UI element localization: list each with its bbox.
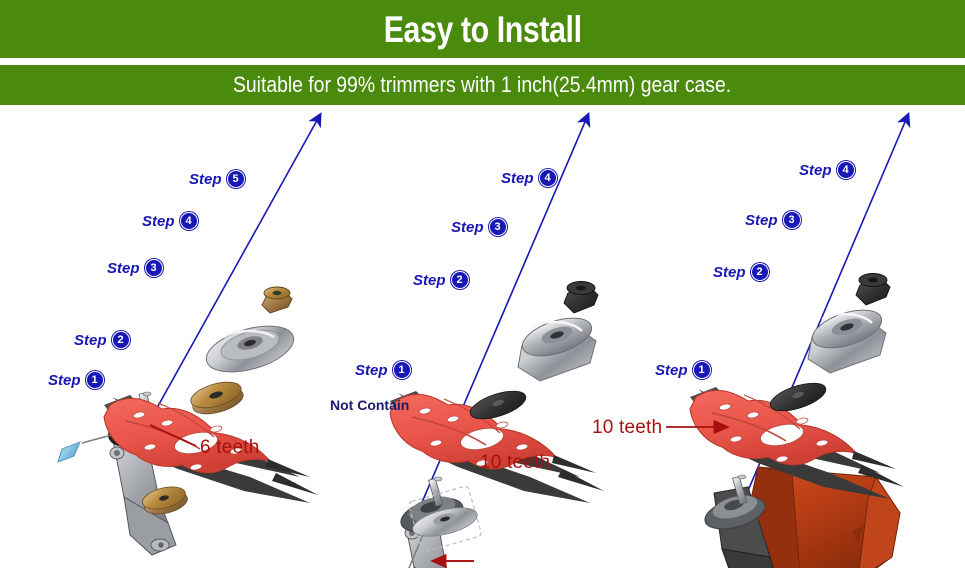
step5-part-nut-left xyxy=(262,287,292,313)
panel-right-graphics xyxy=(666,115,908,568)
page-title: Easy to Install xyxy=(384,11,582,48)
step4-part-nut-right xyxy=(856,274,890,306)
step3-part-cup-middle xyxy=(518,311,596,381)
step4-part-nut-middle xyxy=(564,282,598,314)
exploded-diagram-stage: Step 1 Step 2 Step 3 Step 4 Step 5 6 tee… xyxy=(0,105,965,568)
panel-left-graphics xyxy=(58,115,320,555)
step3-part-cup-washer-left xyxy=(188,377,246,418)
subtitle-banner: Suitable for 99% trimmers with 1 inch(25… xyxy=(0,65,965,105)
panel-middle-graphics xyxy=(368,115,604,568)
title-banner: Easy to Install xyxy=(0,0,965,58)
step3-part-cup-right xyxy=(808,303,886,373)
product-infographic: Easy to Install Suitable for 99% trimmer… xyxy=(0,0,965,568)
step4-part-dish-washer-left xyxy=(201,317,299,380)
page-subtitle: Suitable for 99% trimmers with 1 inch(25… xyxy=(233,74,731,96)
